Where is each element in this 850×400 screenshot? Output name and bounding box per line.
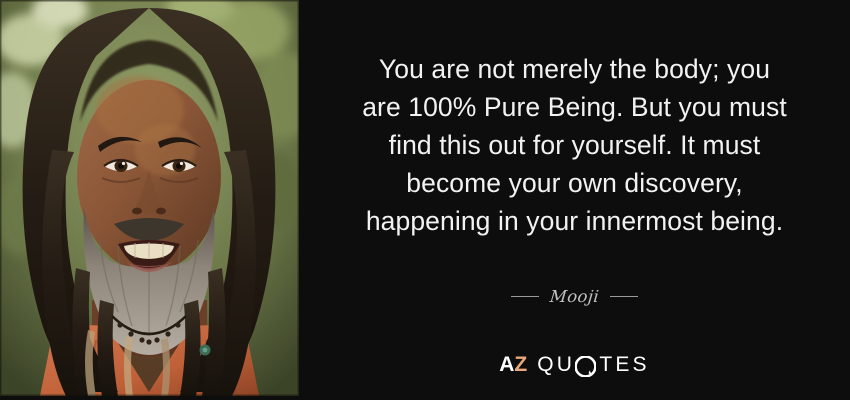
logo-lockup: A Z QU TES: [499, 354, 650, 375]
speech-bubble-icon: [575, 354, 596, 375]
logo-letter-z: Z: [514, 354, 527, 375]
logo-letter-a: A: [499, 354, 514, 375]
logo-text-qu: QU: [537, 354, 575, 375]
attribution-rule-right: [610, 296, 638, 297]
quote-card: You are not merely the body; you are 100…: [0, 0, 850, 400]
author-portrait-photo: [0, 0, 299, 396]
speech-bubble-glyph: [575, 356, 596, 377]
logo-text-tes: TES: [599, 354, 649, 375]
quote-body-text: You are not merely the body; you are 100…: [319, 50, 830, 240]
author-name: Mooji: [549, 287, 600, 306]
author-attribution: Mooji: [319, 283, 830, 309]
attribution-rule-left: [511, 296, 539, 297]
quote-panel: You are not merely the body; you are 100…: [299, 0, 850, 400]
azquotes-logo[interactable]: A Z QU TES: [319, 350, 830, 378]
portrait-illustration: [0, 0, 299, 396]
